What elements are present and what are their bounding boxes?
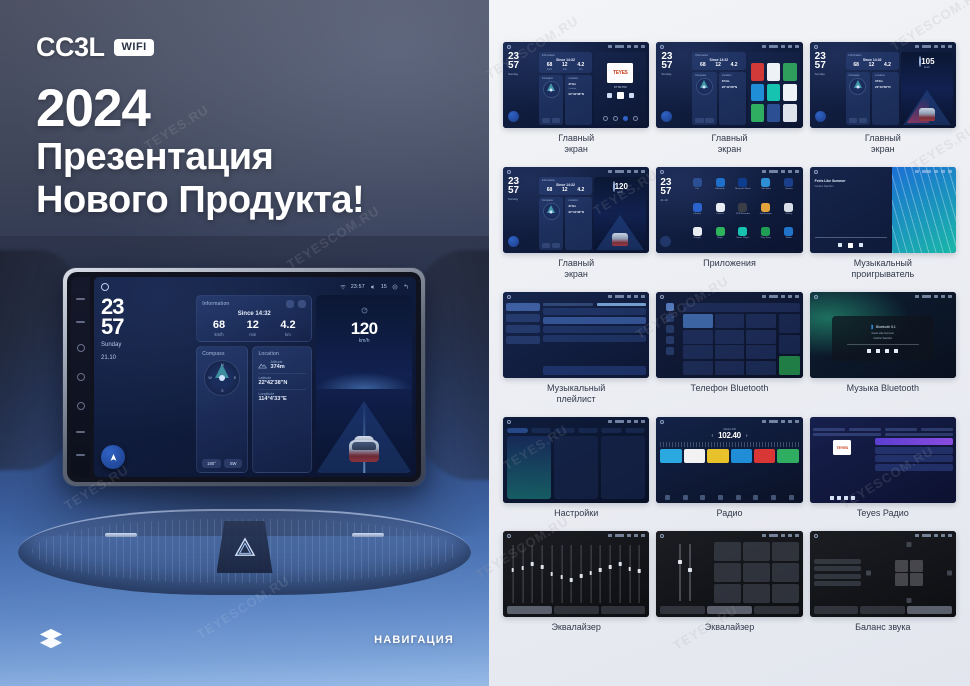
track-row[interactable] xyxy=(543,335,647,342)
information-actions[interactable] xyxy=(286,300,306,308)
back-icon[interactable] xyxy=(641,170,645,173)
home-key-icon[interactable] xyxy=(77,373,85,381)
app-tile-radio[interactable] xyxy=(751,84,764,102)
slider-low[interactable] xyxy=(679,544,681,601)
gear-icon[interactable] xyxy=(634,170,638,173)
seat-grid[interactable] xyxy=(895,560,923,586)
gallery-cell[interactable]: Телефон Bluetooth xyxy=(656,292,802,413)
screenshot-music-player[interactable]: Feels Like Summer Carbon Saxofon xyxy=(810,167,956,253)
gear-icon[interactable] xyxy=(788,295,792,298)
eq-band[interactable] xyxy=(567,545,575,603)
eq-band[interactable] xyxy=(538,545,546,603)
preset-all[interactable] xyxy=(814,581,861,586)
gallery-cell[interactable]: Эквалайзер xyxy=(656,531,802,641)
mini-driving-view[interactable]: 105 km/h xyxy=(901,52,953,125)
teyes-now-playing: TEYES xyxy=(813,438,872,500)
next-icon[interactable] xyxy=(629,93,634,98)
app-item[interactable]: Maps xyxy=(710,227,730,250)
screenshot-home-road-big[interactable]: 23 57 Sunday Information Since 14:32 xyxy=(503,167,649,253)
pause-icon[interactable] xyxy=(848,243,853,248)
gear-icon[interactable] xyxy=(941,295,945,298)
bt-progress-bar[interactable] xyxy=(847,344,919,345)
back-icon[interactable] xyxy=(948,170,952,173)
tab-balance[interactable] xyxy=(754,606,799,614)
seat-rear-right[interactable] xyxy=(910,573,923,585)
wifi-icon xyxy=(608,170,612,173)
eq-band[interactable] xyxy=(548,545,556,603)
screenshot-home-road[interactable]: 23 57 Sunday Information Since 14:32 xyxy=(810,42,956,128)
back-fab-button[interactable] xyxy=(660,236,671,247)
back-icon[interactable] xyxy=(641,420,645,423)
tune-up-icon[interactable]: › xyxy=(746,433,748,439)
backspace-icon[interactable] xyxy=(779,335,800,354)
gear-icon[interactable] xyxy=(941,534,945,537)
preset-3[interactable] xyxy=(707,449,728,463)
tab-wifi[interactable] xyxy=(507,428,528,433)
stop-icon[interactable] xyxy=(885,349,889,353)
mini-driving-view[interactable]: 120 km/h xyxy=(594,177,646,250)
home-icon[interactable] xyxy=(660,45,664,49)
home-icon[interactable] xyxy=(660,420,664,424)
teyes-nav-row[interactable] xyxy=(813,428,953,431)
nav-favorites[interactable] xyxy=(921,428,953,431)
balance-pad[interactable] xyxy=(866,542,952,603)
back-icon[interactable] xyxy=(795,534,799,537)
eq-band[interactable] xyxy=(597,545,605,603)
play-pause-icon[interactable] xyxy=(617,92,624,99)
panel-hotspot[interactable] xyxy=(554,436,598,499)
back-arrow-icon[interactable] xyxy=(403,284,409,290)
eq-band[interactable] xyxy=(616,545,624,603)
tab-usb[interactable] xyxy=(597,303,647,306)
home-icon[interactable] xyxy=(101,283,109,291)
equalizer-tabs[interactable] xyxy=(507,606,645,614)
apps-icon[interactable] xyxy=(789,495,794,500)
driving-view-panel[interactable]: 120 km/h xyxy=(316,295,412,473)
app-item[interactable]: Camera xyxy=(779,178,799,201)
bt-transport[interactable] xyxy=(867,349,898,353)
preset-vocal[interactable] xyxy=(743,563,770,582)
expand-icon[interactable] xyxy=(298,300,306,308)
app-tile-youtube[interactable] xyxy=(751,63,764,81)
transport-controls[interactable] xyxy=(815,243,887,248)
track-row[interactable] xyxy=(543,308,647,315)
screenshot-music-list[interactable] xyxy=(503,292,649,378)
station-row[interactable] xyxy=(875,464,953,471)
app-tile-music[interactable] xyxy=(767,84,780,102)
back-icon[interactable] xyxy=(795,45,799,48)
gallery-cell[interactable]: 23 57 Sunday Information Since 14:32 xyxy=(503,167,649,288)
player-transport[interactable] xyxy=(607,92,634,99)
screenshot-bt-music[interactable]: Bluetooth 5.1 Feels Like Summer Carbon S… xyxy=(810,292,956,378)
screenshot-home-music[interactable]: 23 57 Sunday Information Since 14:32 xyxy=(503,42,649,128)
tab-sub[interactable] xyxy=(554,606,599,614)
hazard-light-button[interactable] xyxy=(217,521,273,573)
vent-tab-right[interactable] xyxy=(352,533,384,537)
station-row[interactable] xyxy=(875,447,953,454)
app-item[interactable]: Gallery xyxy=(779,203,799,226)
settings-panels[interactable] xyxy=(507,436,645,499)
gear-icon[interactable] xyxy=(634,420,638,423)
next-icon[interactable] xyxy=(859,243,863,247)
stop-icon[interactable] xyxy=(837,496,841,500)
screenshot-balance[interactable] xyxy=(810,531,956,617)
screenshot-apps[interactable]: 23 57 21.10 Car Bluetooth Bluetooth Musi… xyxy=(656,167,802,253)
screenshot-settings[interactable] xyxy=(503,417,649,503)
app-tile-apps[interactable] xyxy=(783,104,796,122)
radio-presets[interactable] xyxy=(660,449,798,463)
key-1[interactable] xyxy=(683,314,713,328)
eq-band[interactable] xyxy=(606,545,614,603)
slider-high[interactable] xyxy=(689,544,691,601)
sidebar-contacts-icon[interactable] xyxy=(666,314,674,322)
play-pause-icon[interactable] xyxy=(876,349,880,353)
back-key-icon[interactable] xyxy=(77,402,85,410)
tab-display[interactable] xyxy=(554,428,575,433)
key-8[interactable] xyxy=(715,345,745,359)
screenshot-teyes-radio[interactable]: TEYES xyxy=(810,417,956,503)
mini-compass-card: Compass xyxy=(846,72,871,125)
home-icon[interactable] xyxy=(660,295,664,299)
prev-icon[interactable] xyxy=(867,349,871,353)
home-icon[interactable] xyxy=(507,45,511,49)
app-item[interactable]: Bluetooth Music xyxy=(733,178,753,201)
seat-front-right[interactable] xyxy=(910,560,923,572)
track-row[interactable] xyxy=(543,326,647,333)
mini-app-shortcuts[interactable] xyxy=(748,52,800,125)
gear-icon[interactable] xyxy=(634,295,638,298)
progress-bar[interactable] xyxy=(815,237,887,238)
eq-band[interactable] xyxy=(626,545,634,603)
app-grid[interactable]: Car Bluetooth Bluetooth Music Calculator… xyxy=(687,178,798,250)
information-card[interactable]: Information Since 14:32 68 xyxy=(196,295,312,342)
head-unit-screen[interactable]: 23:57 15 xyxy=(94,277,416,477)
location-card[interactable]: Location Altitude 374m xyxy=(252,346,312,473)
tab-sub[interactable] xyxy=(860,606,905,614)
screenshot-bt-phone[interactable] xyxy=(656,292,802,378)
gallery-cell[interactable]: Настройки xyxy=(503,417,649,527)
back-icon[interactable] xyxy=(795,420,799,423)
app-tile-car[interactable] xyxy=(767,104,780,122)
back-icon[interactable] xyxy=(641,45,645,48)
refresh-icon[interactable] xyxy=(286,300,294,308)
prev-icon[interactable] xyxy=(830,496,834,500)
screenshot-home-apps[interactable]: 23 57 Sunday Information Since 14:32 xyxy=(656,42,802,128)
radio-dial-scale[interactable] xyxy=(660,442,798,447)
preset-front[interactable] xyxy=(814,566,861,571)
balance-presets[interactable] xyxy=(814,542,861,603)
eq-icon[interactable] xyxy=(718,495,723,500)
teyes-station-list[interactable] xyxy=(875,438,953,500)
mini-nav-fab[interactable] xyxy=(508,236,519,247)
eq-band[interactable] xyxy=(509,545,517,603)
eq-band[interactable] xyxy=(558,545,566,603)
sidebar-settings-icon[interactable] xyxy=(666,347,674,355)
gallery-cell[interactable]: 23 57 Sunday Information Since 14:32 xyxy=(503,42,649,163)
preset-jazz[interactable] xyxy=(772,542,799,561)
eq-band[interactable] xyxy=(528,545,536,603)
back-icon[interactable] xyxy=(641,295,645,298)
preset-driver[interactable] xyxy=(814,559,861,564)
gear-icon[interactable] xyxy=(788,45,792,48)
gallery-cell[interactable]: TEYES xyxy=(810,417,956,527)
sidebar-item-albums[interactable] xyxy=(506,314,540,322)
app-tile-contacts[interactable] xyxy=(767,63,780,81)
phone-sidebar[interactable] xyxy=(659,303,680,375)
home-icon[interactable] xyxy=(814,45,818,49)
filter-country[interactable] xyxy=(885,433,953,436)
longitude-value: 114°4'33"E xyxy=(258,396,306,402)
back-icon[interactable] xyxy=(948,45,952,48)
loc-icon[interactable] xyxy=(736,495,741,500)
tab-sound[interactable] xyxy=(531,428,552,433)
home-icon[interactable] xyxy=(660,534,664,538)
panel-wifi[interactable] xyxy=(507,436,551,499)
tab-system[interactable] xyxy=(578,428,599,433)
app-item[interactable]: Radio xyxy=(779,227,799,250)
preset-dance[interactable] xyxy=(772,584,799,603)
teyes-transport[interactable] xyxy=(813,496,872,500)
balance-up-icon[interactable] xyxy=(906,542,911,547)
gallery-cell[interactable]: 23 57 Sunday Information Since 14:32 xyxy=(656,42,802,163)
app-item[interactable]: Chrome xyxy=(687,203,707,226)
gear-icon[interactable] xyxy=(788,534,792,537)
equalizer-bands[interactable] xyxy=(507,542,645,606)
home-icon[interactable] xyxy=(814,170,818,174)
key-0[interactable] xyxy=(715,361,745,375)
mini-nav-fab[interactable] xyxy=(508,111,519,122)
mini-nav-fab[interactable] xyxy=(661,111,672,122)
volume-down-icon[interactable] xyxy=(76,431,85,433)
equalizer-tabs[interactable] xyxy=(814,606,952,614)
app-item[interactable]: Play Store xyxy=(756,227,776,250)
gallery-cell[interactable]: Bluetooth 5.1 Feels Like Summer Carbon S… xyxy=(810,292,956,413)
tab-about[interactable] xyxy=(625,428,646,433)
tab-eq[interactable] xyxy=(660,606,705,614)
favorite-icon[interactable] xyxy=(779,314,800,333)
gallery-cell[interactable]: Эквалайзер xyxy=(503,531,649,641)
mini-nav-fab[interactable] xyxy=(815,111,826,122)
balance-right-icon[interactable] xyxy=(947,570,952,575)
playlist-sidebar[interactable] xyxy=(506,303,540,375)
preset-pop[interactable] xyxy=(714,542,741,561)
eq-band[interactable] xyxy=(519,545,527,603)
eq-band[interactable] xyxy=(587,545,595,603)
tab-balance[interactable] xyxy=(601,606,646,614)
gallery-cell[interactable]: Station FM ‹ 102.40 › xyxy=(656,417,802,527)
preset-rear[interactable] xyxy=(814,574,861,579)
preset-4[interactable] xyxy=(731,449,752,463)
scan-icon[interactable] xyxy=(683,495,688,500)
app-item[interactable]: Google xyxy=(687,227,707,250)
eq-band[interactable] xyxy=(636,545,644,603)
source-bt-icon[interactable] xyxy=(613,116,618,121)
gallery-cell[interactable]: 23 57 Sunday Information Since 14:32 xyxy=(810,42,956,163)
key-7[interactable] xyxy=(683,345,713,359)
layers-icon[interactable] xyxy=(38,627,64,651)
home-icon[interactable] xyxy=(507,295,511,299)
app-item[interactable]: FileManager xyxy=(756,203,776,226)
nav-home[interactable] xyxy=(813,428,845,431)
home-icon[interactable] xyxy=(507,170,511,174)
preset-custom[interactable] xyxy=(714,584,741,603)
source-radio-icon[interactable] xyxy=(623,116,628,121)
nav-podcast[interactable] xyxy=(885,428,917,431)
playlist-tabs[interactable] xyxy=(543,303,647,306)
preset-2[interactable] xyxy=(684,449,705,463)
nav-live[interactable] xyxy=(849,428,881,431)
back-icon[interactable] xyxy=(641,534,645,537)
home-icon[interactable] xyxy=(814,295,818,299)
preset-1[interactable] xyxy=(660,449,681,463)
radio-tuner-row[interactable]: ‹ 102.40 › xyxy=(660,431,798,440)
sidebar-search-icon[interactable] xyxy=(666,325,674,333)
key-prev-icon[interactable] xyxy=(76,298,85,300)
home-icon[interactable] xyxy=(814,534,818,538)
key-3[interactable] xyxy=(746,314,776,328)
next-icon[interactable] xyxy=(894,349,898,353)
key-4[interactable] xyxy=(683,330,713,344)
preset-grid[interactable] xyxy=(714,542,799,603)
radio-toolbar[interactable] xyxy=(660,493,798,500)
compass-card[interactable]: Compass N E S W xyxy=(196,346,248,473)
equalizer-tabs[interactable] xyxy=(660,606,798,614)
tab-balance[interactable] xyxy=(907,606,952,614)
app-item[interactable]: Car xyxy=(687,178,707,201)
home-icon[interactable] xyxy=(507,534,511,538)
vent-tab-left[interactable] xyxy=(105,533,137,537)
call-icon[interactable] xyxy=(779,356,800,375)
tab-local[interactable] xyxy=(543,303,593,306)
station-row[interactable] xyxy=(875,438,953,445)
mini-player-bar[interactable] xyxy=(543,366,647,375)
settings-tabs[interactable] xyxy=(507,428,645,433)
gallery-cell[interactable]: 23 57 21.10 Car Bluetooth Bluetooth Musi… xyxy=(656,167,802,288)
home-icon[interactable] xyxy=(660,170,664,174)
sidebar-item-tracks[interactable] xyxy=(506,303,540,311)
back-icon[interactable] xyxy=(795,170,799,173)
app-tile-play[interactable] xyxy=(751,104,764,122)
seat-front-left[interactable] xyxy=(895,560,908,572)
station-row[interactable] xyxy=(875,455,953,462)
tune-down-icon[interactable]: ‹ xyxy=(711,433,713,439)
sidebar-item-folders[interactable] xyxy=(506,336,540,344)
player-source-row[interactable] xyxy=(603,116,638,121)
panel-more[interactable] xyxy=(601,436,645,499)
gear-icon[interactable] xyxy=(788,170,792,173)
preset-bass[interactable] xyxy=(772,563,799,582)
gallery-cell[interactable]: Feels Like Summer Carbon Saxofon xyxy=(810,167,956,288)
tab-eq[interactable] xyxy=(507,606,552,614)
next-icon[interactable] xyxy=(844,496,848,500)
settings-gear-icon[interactable] xyxy=(392,284,398,290)
preset-flat[interactable] xyxy=(743,584,770,603)
volume-up-icon[interactable] xyxy=(76,454,85,456)
eq-band[interactable] xyxy=(577,545,585,603)
tab-eq[interactable] xyxy=(814,606,859,614)
screenshot-radio[interactable]: Station FM ‹ 102.40 › xyxy=(656,417,802,503)
key-hash[interactable] xyxy=(746,361,776,375)
gear-icon[interactable] xyxy=(788,420,792,423)
source-aux-icon[interactable] xyxy=(633,116,638,121)
track-row[interactable] xyxy=(543,317,647,324)
back-icon[interactable] xyxy=(948,295,952,298)
settings-icon[interactable] xyxy=(771,495,776,500)
seat-rear-left[interactable] xyxy=(895,573,908,585)
key-next-icon[interactable] xyxy=(76,321,85,323)
wifi-icon xyxy=(608,534,612,537)
balance-left-icon[interactable] xyxy=(866,570,871,575)
bt-track: Feels Like Summer xyxy=(872,332,894,335)
power-icon[interactable] xyxy=(77,344,85,352)
crossover-sliders[interactable] xyxy=(660,542,710,603)
balance-down-icon[interactable] xyxy=(906,598,911,603)
preset-6[interactable] xyxy=(777,449,798,463)
preset-classic[interactable] xyxy=(714,563,741,582)
phone-number-input[interactable] xyxy=(683,303,799,312)
app-item[interactable]: Music Player xyxy=(733,227,753,250)
tab-apps[interactable] xyxy=(601,428,622,433)
preset-rock[interactable] xyxy=(743,542,770,561)
gear-icon[interactable] xyxy=(634,534,638,537)
head-unit-hard-keys[interactable] xyxy=(71,277,90,477)
app-item[interactable]: Bluetooth xyxy=(710,178,730,201)
sidebar-dialpad-icon[interactable] xyxy=(666,303,674,311)
app-tile-camera[interactable] xyxy=(783,84,796,102)
mini-music-widget[interactable]: TEYES 07:50 PM xyxy=(594,52,646,125)
app-tile-maps[interactable] xyxy=(783,63,796,81)
preset-5[interactable] xyxy=(754,449,775,463)
mini-speed-value: 105 xyxy=(921,57,934,66)
key-9[interactable] xyxy=(746,345,776,359)
back-icon[interactable] xyxy=(948,534,952,537)
prev-icon[interactable] xyxy=(607,93,612,98)
teyes-filter-row[interactable] xyxy=(813,433,953,436)
prev-icon[interactable] xyxy=(838,243,842,247)
source-usb-icon[interactable] xyxy=(603,116,608,121)
key-star[interactable] xyxy=(683,361,713,375)
gear-icon[interactable] xyxy=(941,170,945,173)
sidebar-item-artists[interactable] xyxy=(506,325,540,333)
app-item[interactable]: Calculator xyxy=(756,178,776,201)
screenshot-equalizer-2[interactable] xyxy=(656,531,802,617)
key-2[interactable] xyxy=(715,314,745,328)
phone-actions[interactable] xyxy=(779,314,800,375)
gear-icon[interactable] xyxy=(634,45,638,48)
list-icon[interactable] xyxy=(700,495,705,500)
tab-sub[interactable] xyxy=(707,606,752,614)
filter-genre[interactable] xyxy=(813,433,881,436)
favorite-icon[interactable] xyxy=(851,496,855,500)
home-icon[interactable] xyxy=(507,420,511,424)
back-icon[interactable] xyxy=(795,295,799,298)
dial-pad[interactable] xyxy=(683,314,775,375)
navigation-fab-button[interactable] xyxy=(101,445,125,469)
key-6[interactable] xyxy=(746,330,776,344)
app-label: Music Player xyxy=(737,237,750,239)
gallery-cell[interactable]: Баланс звука xyxy=(810,531,956,641)
app-item[interactable]: DVR Recorder xyxy=(733,203,753,226)
gear-icon[interactable] xyxy=(941,45,945,48)
gallery-cell[interactable]: Музыкальный плейлист xyxy=(503,292,649,413)
screenshot-equalizer[interactable] xyxy=(503,531,649,617)
sidebar-history-icon[interactable] xyxy=(666,336,674,344)
app-item[interactable]: Contact xyxy=(710,203,730,226)
st-icon[interactable] xyxy=(753,495,758,500)
band-icon[interactable] xyxy=(665,495,670,500)
key-5[interactable] xyxy=(715,330,745,344)
quick-apps-grid[interactable] xyxy=(751,63,797,122)
